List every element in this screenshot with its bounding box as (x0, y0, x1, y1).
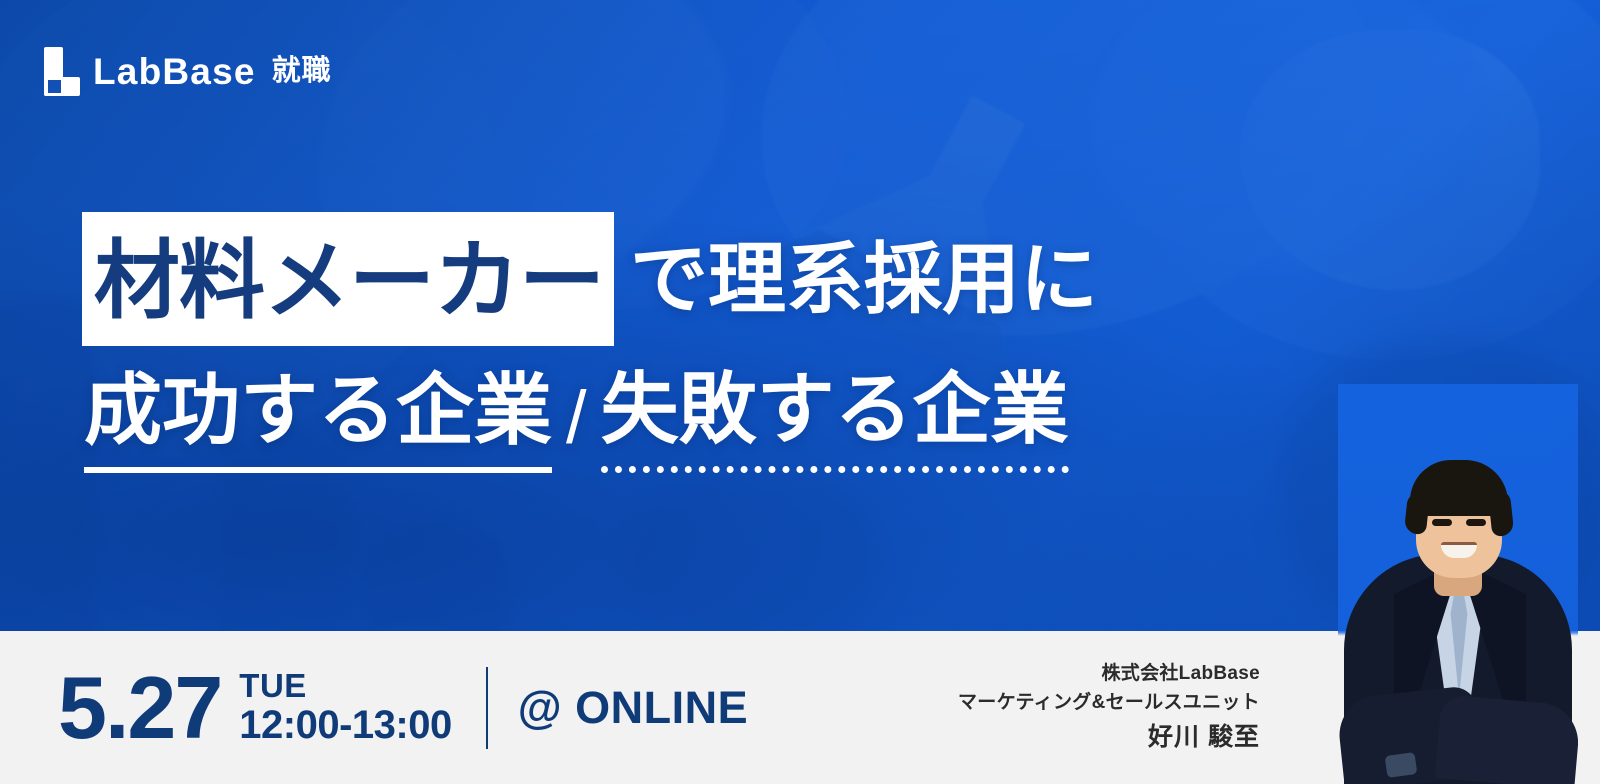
event-time: 12:00-13:00 (239, 704, 451, 746)
speaker-unit: マーケティング&セールスユニット (958, 688, 1260, 717)
logo-wordmark: LabBase (93, 53, 256, 90)
portrait-wristwatch (1385, 752, 1418, 778)
event-banner: LabBase 就職 材料メーカー で理系採用に 成功する企業 / 失敗する企業… (0, 0, 1600, 784)
headline-line-1-rest: で理系採用に (630, 240, 1098, 318)
event-dow-time-stack: TUE 12:00-13:00 (239, 669, 451, 746)
event-datetime-group: 5.27 TUE 12:00-13:00 @ ONLINE (58, 631, 748, 784)
portrait-eye-left (1432, 519, 1452, 526)
logo-suffix: 就職 (272, 57, 332, 86)
speaker-info: 株式会社LabBase マーケティング&セールスユニット 好川 駿至 (958, 631, 1260, 784)
speaker-company: 株式会社LabBase (1101, 659, 1260, 688)
labbase-mark-icon (44, 47, 80, 96)
headline-success-phrase: 成功する企業 (84, 371, 552, 473)
event-venue: @ ONLINE (518, 682, 748, 734)
headline-highlight-box: 材料メーカー (82, 212, 614, 346)
speaker-portrait (1338, 384, 1578, 784)
portrait-arm-right (1435, 694, 1578, 784)
vertical-divider (486, 667, 488, 749)
event-day-of-week: TUE (239, 669, 451, 704)
labbase-logo[interactable]: LabBase 就職 (44, 47, 332, 96)
headline-line-1: 材料メーカー で理系採用に (82, 212, 1098, 346)
portrait-eye-right (1466, 519, 1486, 526)
headline-line-2: 成功する企業 / 失敗する企業 (84, 370, 1069, 473)
logo-notch-square (48, 80, 61, 93)
speaker-name: 好川 駿至 (1148, 719, 1260, 757)
headline-separator: / (552, 381, 601, 473)
headline-failure-phrase: 失敗する企業 (601, 370, 1069, 473)
event-date: 5.27 (58, 664, 221, 752)
